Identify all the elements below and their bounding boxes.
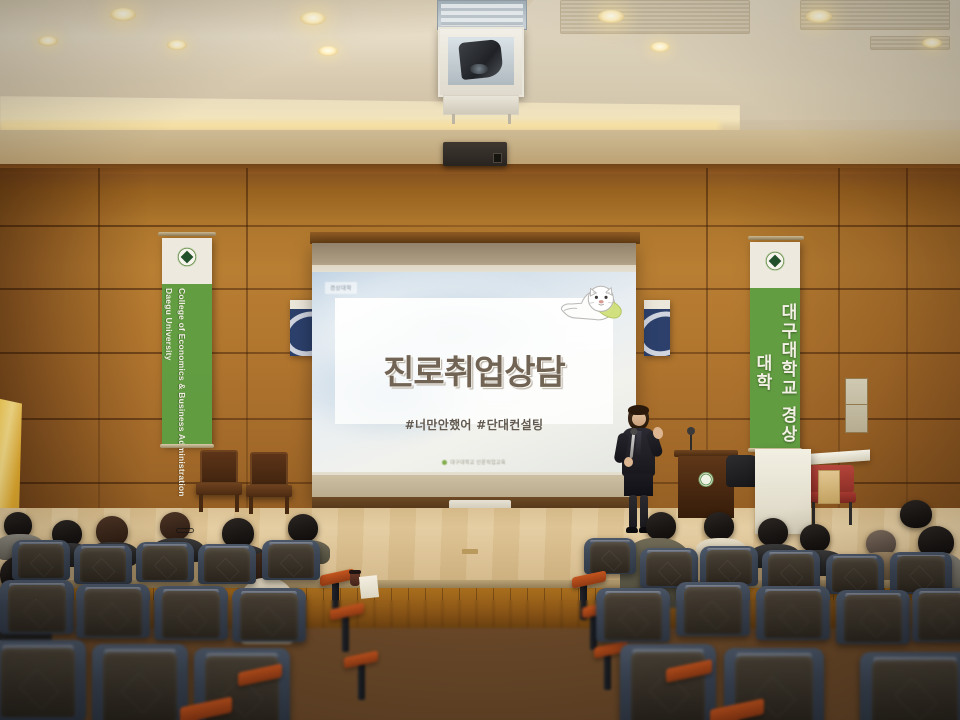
auditorium-seat xyxy=(584,538,636,574)
audience-head xyxy=(800,524,830,552)
audience-head xyxy=(288,514,318,542)
auditorium-seat xyxy=(12,540,70,580)
auditorium-seat xyxy=(676,582,750,636)
seat-cushion xyxy=(706,550,751,584)
seat-cushion xyxy=(918,593,960,639)
audience-head xyxy=(758,518,788,546)
right-banner-text: 대구대학교 경상대학 xyxy=(750,296,800,450)
white-tiger-mascot-icon xyxy=(552,278,626,330)
seat-cushion xyxy=(80,548,125,582)
banner-rod-right xyxy=(748,236,804,240)
projector-mount xyxy=(443,95,519,115)
wall-shadow-left xyxy=(0,168,150,548)
presenter-mic-hand xyxy=(624,457,633,467)
university-emblem-icon xyxy=(175,245,199,269)
auditorium-seat xyxy=(0,580,74,634)
auditorium-seat xyxy=(232,588,306,642)
eyeglasses-icon xyxy=(176,528,194,533)
seat-cushion xyxy=(872,660,958,720)
wall-vent-window xyxy=(845,378,868,433)
ceiling-downlight xyxy=(806,10,832,23)
projector-housing-interior xyxy=(448,37,514,85)
seat-cushion xyxy=(590,542,631,573)
ceiling-downlight xyxy=(167,40,187,50)
ceiling-downlight xyxy=(318,46,338,56)
ceiling-downlight xyxy=(110,8,136,21)
seat-arm-post xyxy=(358,664,365,700)
seat-cushion xyxy=(768,554,813,588)
ceiling-projector xyxy=(438,27,524,97)
wall-speaker xyxy=(443,142,507,166)
projector-mount-leg xyxy=(452,114,455,124)
banner-foot-left xyxy=(160,444,214,448)
seat-cushion xyxy=(832,558,877,592)
university-seal-icon xyxy=(699,472,714,487)
chair-back xyxy=(250,452,288,486)
projected-slide: 경상대학 진로취업상담 #너만안했어 #단대컨설팅 대구대학교 인문직업교육 xyxy=(312,272,636,472)
audience-head xyxy=(900,500,932,528)
ceiling-downlight xyxy=(300,12,326,25)
slide-title: 진로취업상담 xyxy=(312,356,636,390)
seat-arm-post xyxy=(342,616,349,652)
hvac-ceiling-vent xyxy=(560,0,750,34)
auditorium-seat xyxy=(154,586,228,640)
auditorium-seat xyxy=(76,584,150,638)
seat-cushion xyxy=(897,556,945,592)
seat-cushion xyxy=(8,585,66,631)
projection-screen: 경상대학 진로취업상담 #너만안했어 #단대컨설팅 대구대학교 인문직업교육 xyxy=(312,243,636,501)
ceiling-access-hatch xyxy=(437,0,527,30)
auditorium-seat xyxy=(198,544,256,584)
seat-cushion xyxy=(268,544,313,578)
auditorium-seat xyxy=(912,588,960,642)
seat-cushion xyxy=(103,652,178,720)
university-emblem-icon xyxy=(763,249,787,273)
presenter-skirt xyxy=(624,474,653,496)
ceiling-downlight xyxy=(598,10,624,23)
projector-body xyxy=(458,39,504,81)
left-green-banner: College of Economics & Business Administ… xyxy=(162,238,212,446)
auditorium-seat xyxy=(0,640,86,720)
seat-cushion xyxy=(18,544,63,578)
seat-cushion xyxy=(162,591,220,637)
seat-cushion xyxy=(604,593,662,639)
seat-cushion xyxy=(764,591,822,637)
auditorium-seat xyxy=(762,550,820,590)
slide-corner-tag: 경상대학 xyxy=(325,282,357,294)
audience-head xyxy=(160,512,190,540)
auditorium-seat xyxy=(596,588,670,642)
seat-cushion xyxy=(142,546,187,580)
left-banner-line2: Daegu University xyxy=(164,288,174,361)
presenter-hair xyxy=(628,405,649,415)
auditorium-seat xyxy=(826,554,884,594)
slide-footer: 대구대학교 인문직업교육 xyxy=(312,459,636,466)
audience-head xyxy=(704,512,734,540)
auditorium-photo: College of Economics & Business Administ… xyxy=(0,0,960,720)
seat-cushion xyxy=(240,593,298,639)
handout-paper xyxy=(359,575,379,599)
auditorium-seat xyxy=(92,644,188,720)
seat-arm-post xyxy=(604,654,611,690)
auditorium-seat xyxy=(136,542,194,582)
banner-rod-left xyxy=(158,232,216,236)
ceiling-downlight xyxy=(38,36,58,46)
seat-cushion xyxy=(684,587,742,633)
projector-mount-leg xyxy=(508,114,511,124)
ceiling-downlight xyxy=(650,42,670,52)
footer-logo-dot xyxy=(442,460,447,465)
auditorium-seat xyxy=(756,586,830,640)
projector-lens xyxy=(470,64,487,75)
right-green-banner: 대구대학교 경상대학 xyxy=(750,242,800,450)
auditorium-seat xyxy=(74,544,132,584)
slide-subtitle: #너만안했어 #단대컨설팅 xyxy=(312,416,636,433)
seat-cushion xyxy=(204,548,249,582)
seat-cushion xyxy=(844,595,902,641)
podium-microphone xyxy=(690,432,692,452)
auditorium-seat xyxy=(860,652,960,720)
auditorium-seat xyxy=(700,546,758,586)
slide-footer-text: 대구대학교 인문직업교육 xyxy=(450,460,506,466)
chair-back xyxy=(200,450,238,484)
seat-cushion xyxy=(84,589,142,635)
auditorium-seat xyxy=(836,590,910,644)
seat-cushion xyxy=(1,648,76,717)
blue-side-banner xyxy=(644,300,670,356)
audience-head xyxy=(646,512,676,540)
left-banner-line1: College of Economics & Business Administ… xyxy=(177,288,187,497)
auditorium-seat xyxy=(262,540,320,580)
ceiling-downlight xyxy=(922,38,942,48)
